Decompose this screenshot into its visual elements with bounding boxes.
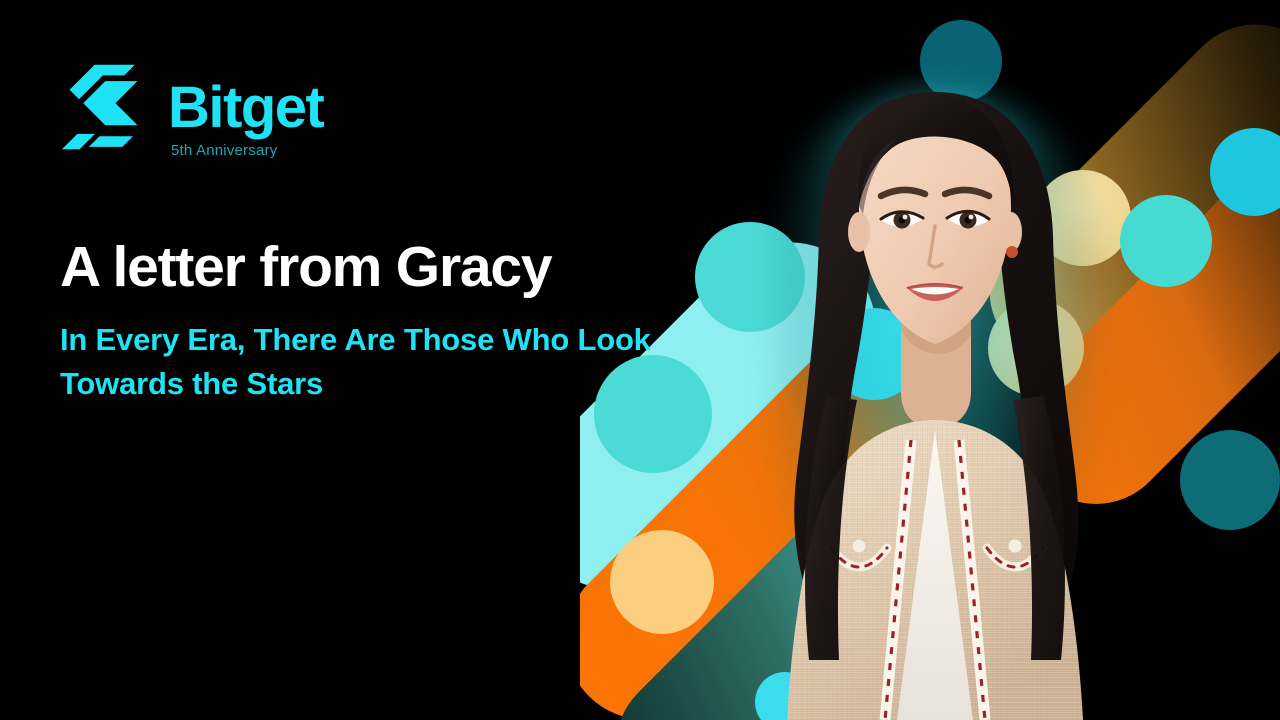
hero-copy: A letter from Gracy In Every Era, There … — [60, 238, 740, 406]
bitget-chevron-logo-icon — [60, 58, 156, 156]
ear-left — [848, 212, 870, 252]
earring — [1006, 246, 1018, 258]
portrait-of-gracy — [735, 0, 1135, 720]
ear-right — [1000, 212, 1022, 252]
brand-name: Bitget — [168, 80, 323, 136]
page-title: A letter from Gracy — [60, 238, 740, 296]
promo-banner: Bitget 5th Anniversary A letter from Gra… — [0, 0, 1280, 720]
brand-tagline: 5th Anniversary — [171, 142, 323, 159]
dark-teal-circle-low — [1180, 430, 1280, 530]
peach-circle — [610, 530, 714, 634]
portrait-illustration — [735, 0, 1135, 720]
page-subtitle: In Every Era, There Are Those Who Look T… — [60, 318, 680, 406]
bitget-logo[interactable]: Bitget 5th Anniversary — [60, 58, 323, 159]
cyan-circle-right — [1210, 128, 1280, 216]
